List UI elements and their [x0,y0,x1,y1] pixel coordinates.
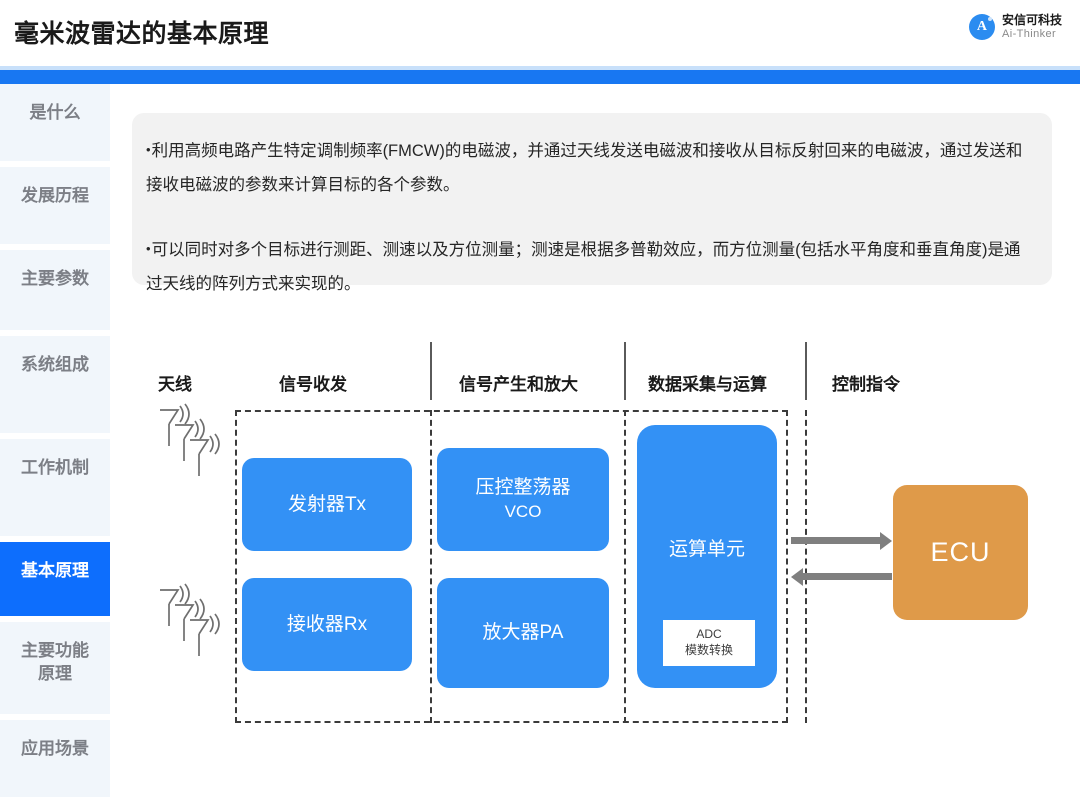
block-label: 放大器PA [483,620,564,646]
bullet-dot-icon: • [146,241,151,256]
sidebar-item-2[interactable]: 发展历程 [0,167,110,247]
column-header-antenna: 天线 [158,370,192,395]
block-label: 压控整荡器 [475,475,570,501]
description-callout: •利用高频电路产生特定调制频率(FMCW)的电磁波，并通过天线发送电磁波和接收从… [132,113,1052,285]
sidebar-item-3[interactable]: 主要参数 [0,250,110,333]
sidebar-nav: 是什么发展历程主要参数系统组成工作机制基本原理主要功能 原理应用场景 [0,84,110,810]
sidebar-item-1[interactable]: 是什么 [0,84,110,164]
callout-bullet-text: 利用高频电路产生特定调制频率(FMCW)的电磁波，并通过天线发送电磁波和接收从目… [146,142,1022,194]
page-header: 毫米波雷达的基本原理 A 安信可科技 Ai-Thinker [0,0,1080,66]
sidebar-item-label: 是什么 [30,84,81,125]
adc-label: ADC [696,627,721,643]
column-header-data-compute: 数据采集与运算 [648,370,767,395]
column-header-control: 控制指令 [832,370,900,395]
column-header-transceiver: 信号收发 [279,370,347,395]
block-compute-unit[interactable]: 运算单元 ADC 模数转换 [637,425,777,688]
frame-divider-control [805,410,807,723]
bullet-dot-icon: • [146,142,151,157]
radar-block-diagram: 天线 信号收发 信号产生和放大 数据采集与运算 控制指令 [132,330,1062,750]
brand-text: 安信可科技 Ai-Thinker [1002,13,1062,42]
sidebar-item-label: 基本原理 [21,542,89,583]
header-accent-bar [0,70,1080,84]
tx-antenna [154,402,240,488]
column-header-signal-gen: 信号产生和放大 [459,370,578,395]
block-label: 发射器Tx [288,492,366,518]
brand-name-cn: 安信可科技 [1002,13,1062,28]
sidebar-item-8[interactable]: 应用场景 [0,720,110,800]
rx-antenna [154,582,240,668]
block-adc[interactable]: ADC 模数转换 [663,620,755,666]
page-title: 毫米波雷达的基本原理 [14,14,269,50]
block-amplifier-pa[interactable]: 放大器PA [437,578,609,688]
arrow-ecu-to-compute [802,573,892,580]
sidebar-item-5[interactable]: 工作机制 [0,439,110,539]
arrow-head-left-icon [791,568,803,586]
sidebar-item-label: 主要功能 原理 [21,622,89,686]
column-divider-3 [805,342,807,400]
sidebar-item-label: 工作机制 [21,439,89,480]
brand-logo: A 安信可科技 Ai-Thinker [969,13,1062,42]
brand-name-en: Ai-Thinker [1002,28,1062,42]
arrow-head-right-icon [880,532,892,550]
frame-divider-signal [430,410,432,723]
block-transmitter-tx[interactable]: 发射器Tx [242,458,412,551]
ecu-label: ECU [930,537,990,568]
block-label: 接收器Rx [287,612,367,638]
sidebar-item-label: 主要参数 [21,250,89,291]
callout-bullet-2: •可以同时对多个目标进行测距、测速以及方位测量；测速是根据多普勒效应，而方位测量… [146,232,1030,301]
sidebar-item-label: 发展历程 [21,167,89,208]
sidebar-item-label: 应用场景 [21,720,89,761]
adc-sublabel: 模数转换 [685,643,733,659]
block-receiver-rx[interactable]: 接收器Rx [242,578,412,671]
block-label: 运算单元 [669,537,745,563]
sidebar-item-6[interactable]: 基本原理 [0,542,110,619]
callout-bullet-1: •利用高频电路产生特定调制频率(FMCW)的电磁波，并通过天线发送电磁波和接收从… [146,133,1030,202]
block-sublabel: VCO [505,501,542,524]
block-ecu[interactable]: ECU [893,485,1028,620]
column-divider-1 [430,342,432,400]
column-divider-2 [624,342,626,400]
ai-thinker-logo-icon: A [969,14,995,40]
block-vco[interactable]: 压控整荡器 VCO [437,448,609,551]
frame-divider-compute [624,410,626,723]
arrow-compute-to-ecu [791,537,881,544]
sidebar-item-7[interactable]: 主要功能 原理 [0,622,110,717]
sidebar-item-4[interactable]: 系统组成 [0,336,110,436]
callout-bullet-text: 可以同时对多个目标进行测距、测速以及方位测量；测速是根据多普勒效应，而方位测量(… [146,241,1021,293]
sidebar-item-label: 系统组成 [21,336,89,377]
